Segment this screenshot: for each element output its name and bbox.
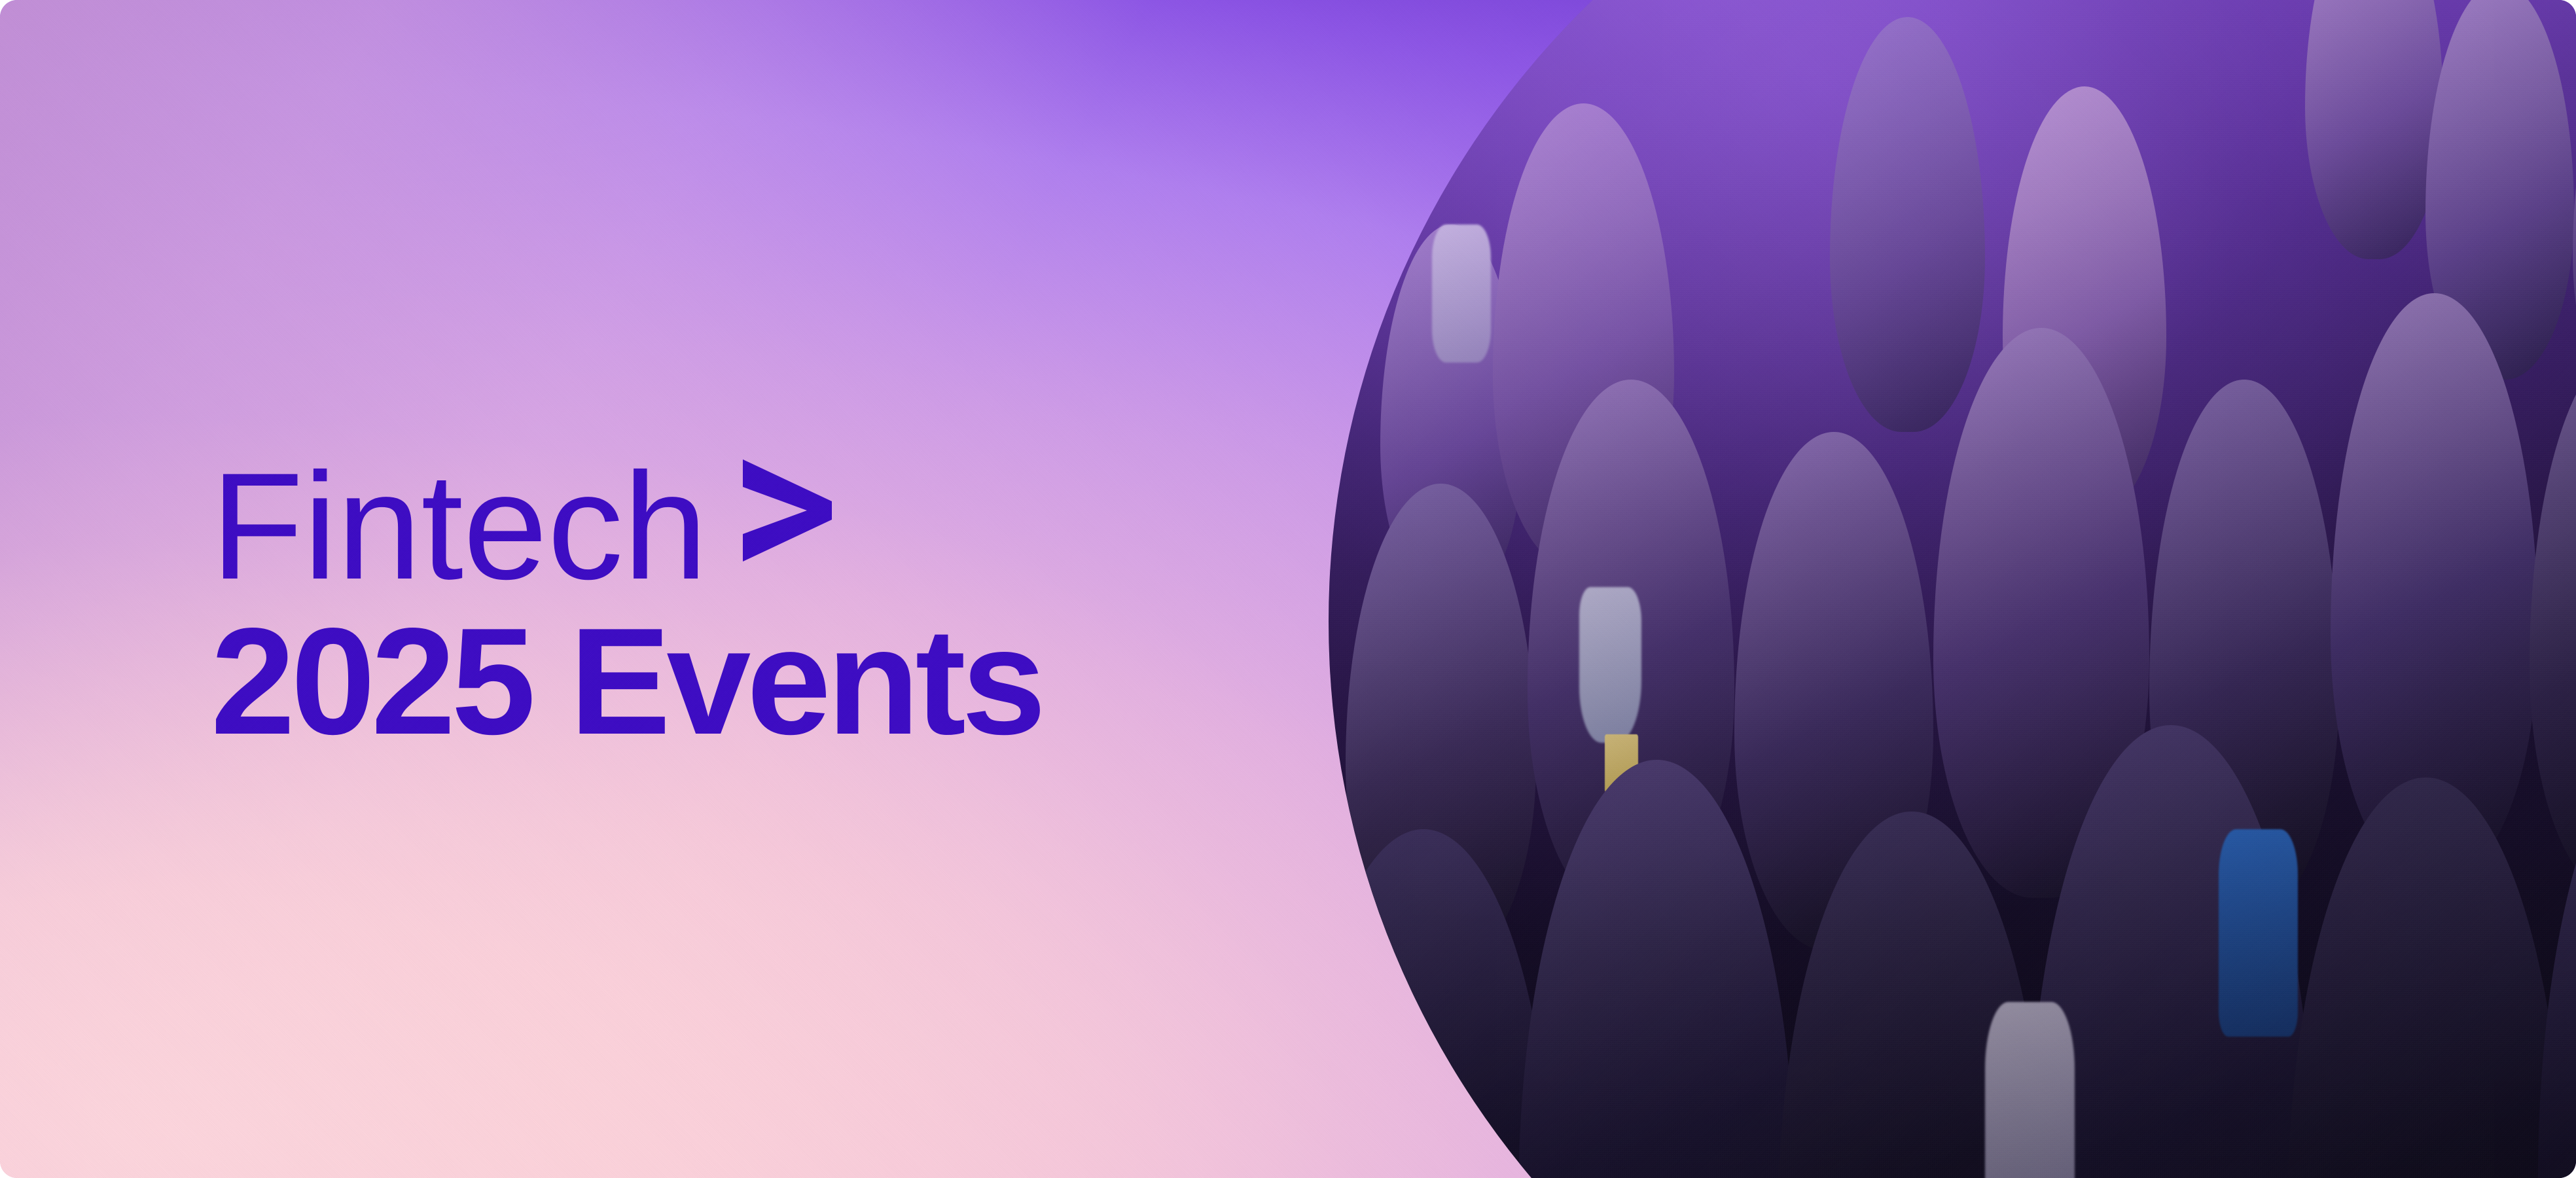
audience-photo-circle <box>1329 0 2576 1178</box>
audience-photo-grain <box>1329 0 2576 1178</box>
audience-photo-image <box>1329 0 2576 1178</box>
chevron-right-icon <box>736 454 834 567</box>
fintech-events-hero-banner: Fintech 2025 Events <box>0 0 2576 1178</box>
hero-headline: Fintech 2025 Events <box>211 457 1042 752</box>
headline-text-2025-events: 2025 Events <box>211 612 1042 751</box>
headline-line-two: 2025 Events <box>211 612 1042 751</box>
headline-line-one: Fintech <box>211 457 1042 596</box>
headline-word-fintech: Fintech <box>211 457 707 596</box>
